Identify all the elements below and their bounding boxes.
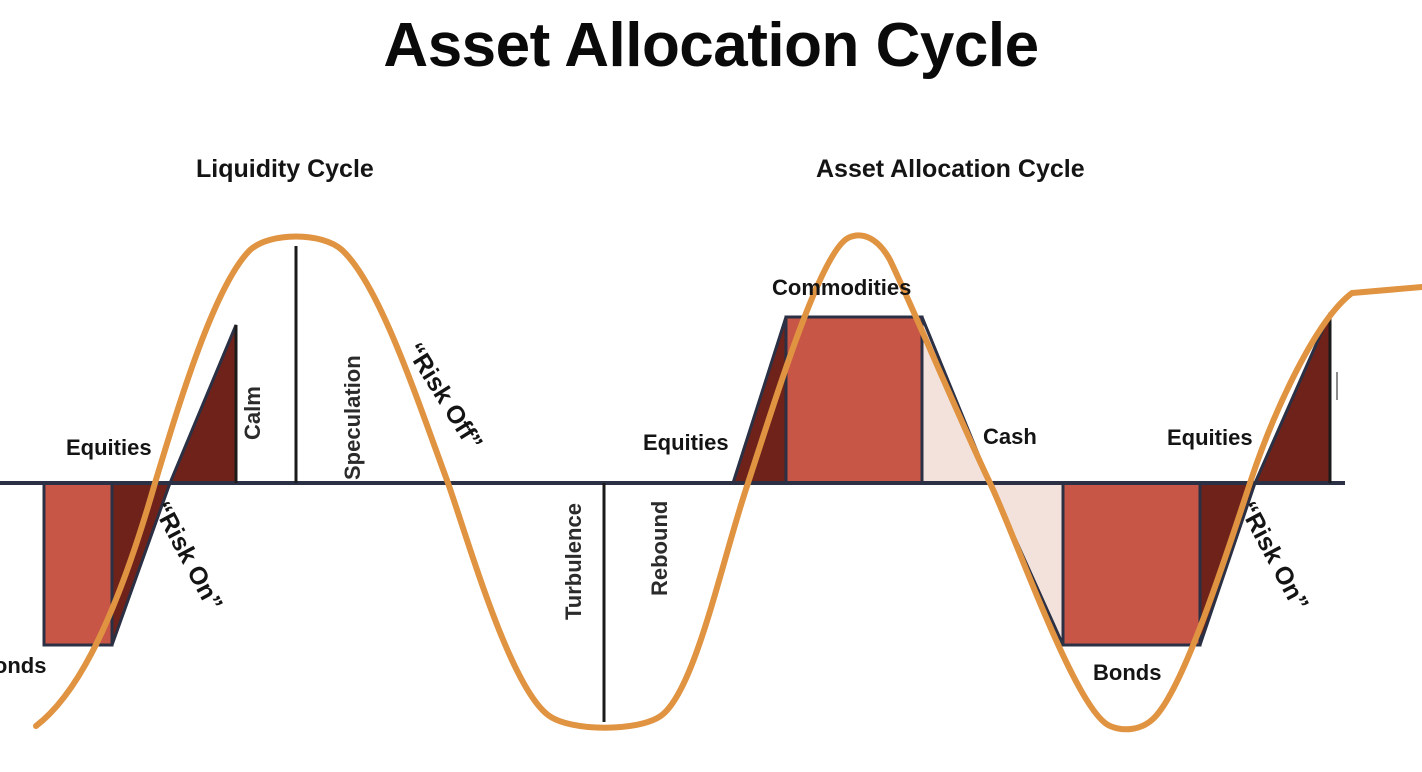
asset-label-equities-mid: Equities: [643, 430, 729, 456]
asset-label-cash: Cash: [983, 424, 1037, 450]
section-heading-asset-allocation-cycle: Asset Allocation Cycle: [816, 155, 1085, 184]
commodities-block: [786, 317, 922, 483]
equities-block-right-above: [1255, 313, 1330, 483]
asset-label-commodities: Commodities: [772, 275, 911, 301]
asset-label-equities-left: Equities: [66, 435, 152, 461]
asset-label-equities-right: Equities: [1167, 425, 1253, 451]
phase-label-rebound: Rebound: [647, 501, 673, 596]
section-heading-liquidity-cycle: Liquidity Cycle: [196, 155, 374, 184]
page-title: Asset Allocation Cycle: [0, 10, 1422, 81]
phase-label-turbulence: Turbulence: [561, 503, 587, 620]
phase-label-speculation: Speculation: [340, 355, 366, 480]
asset-label-bonds-right: Bonds: [1093, 660, 1161, 686]
bonds-block-left: [44, 483, 112, 645]
bonds-block-right: [1063, 483, 1200, 645]
asset-label-bonds-left: Bonds: [0, 653, 46, 679]
asset-allocation-diagram: Asset Allocation Cycle Liquidity Cycle A…: [0, 0, 1422, 772]
phase-label-calm: Calm: [240, 386, 266, 440]
cycle-chart-canvas: [0, 0, 1422, 772]
